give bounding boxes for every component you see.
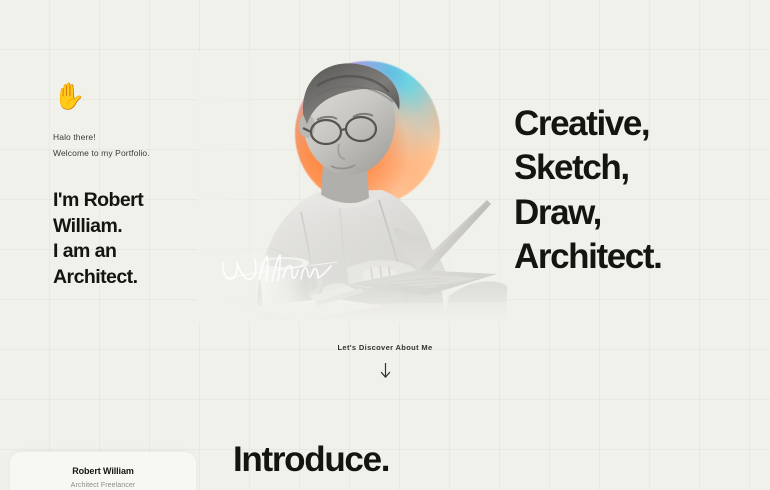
profile-card[interactable]: Robert William Architect Freelancer [10, 452, 196, 490]
hero-portrait-photo [197, 52, 507, 322]
intro-name-line-3: I am an [53, 239, 203, 265]
introduce-section-heading: Introduce. [233, 440, 389, 480]
intro-block: ✋ Halo there! Welcome to my Portfolio. I… [53, 83, 203, 290]
profile-card-name: Robert William [10, 466, 196, 476]
discover-label[interactable]: Let's Discover About Me [0, 343, 770, 352]
discover-cta[interactable]: Let's Discover About Me [0, 343, 770, 379]
headline-line-2: Sketch, [514, 146, 661, 190]
hero-headline: Creative, Sketch, Draw, Architect. [514, 102, 661, 280]
portfolio-landing-page: ✋ Halo there! Welcome to my Portfolio. I… [0, 0, 770, 490]
intro-name-line-1: I'm Robert [53, 188, 203, 214]
intro-name-line-4: Architect. [53, 265, 203, 291]
arrow-down-icon[interactable] [380, 363, 391, 379]
waving-hand-icon: ✋ [53, 83, 203, 109]
headline-line-1: Creative, [514, 102, 661, 146]
intro-name-heading: I'm Robert William. I am an Architect. [53, 188, 203, 290]
hero-image [197, 52, 507, 322]
greeting-line-1: Halo there! [53, 132, 203, 142]
intro-name-line-2: William. [53, 214, 203, 240]
headline-line-3: Draw, [514, 191, 661, 235]
greeting-line-2: Welcome to my Portfolio. [53, 148, 203, 158]
profile-card-role: Architect Freelancer [10, 482, 196, 489]
headline-line-4: Architect. [514, 235, 661, 279]
